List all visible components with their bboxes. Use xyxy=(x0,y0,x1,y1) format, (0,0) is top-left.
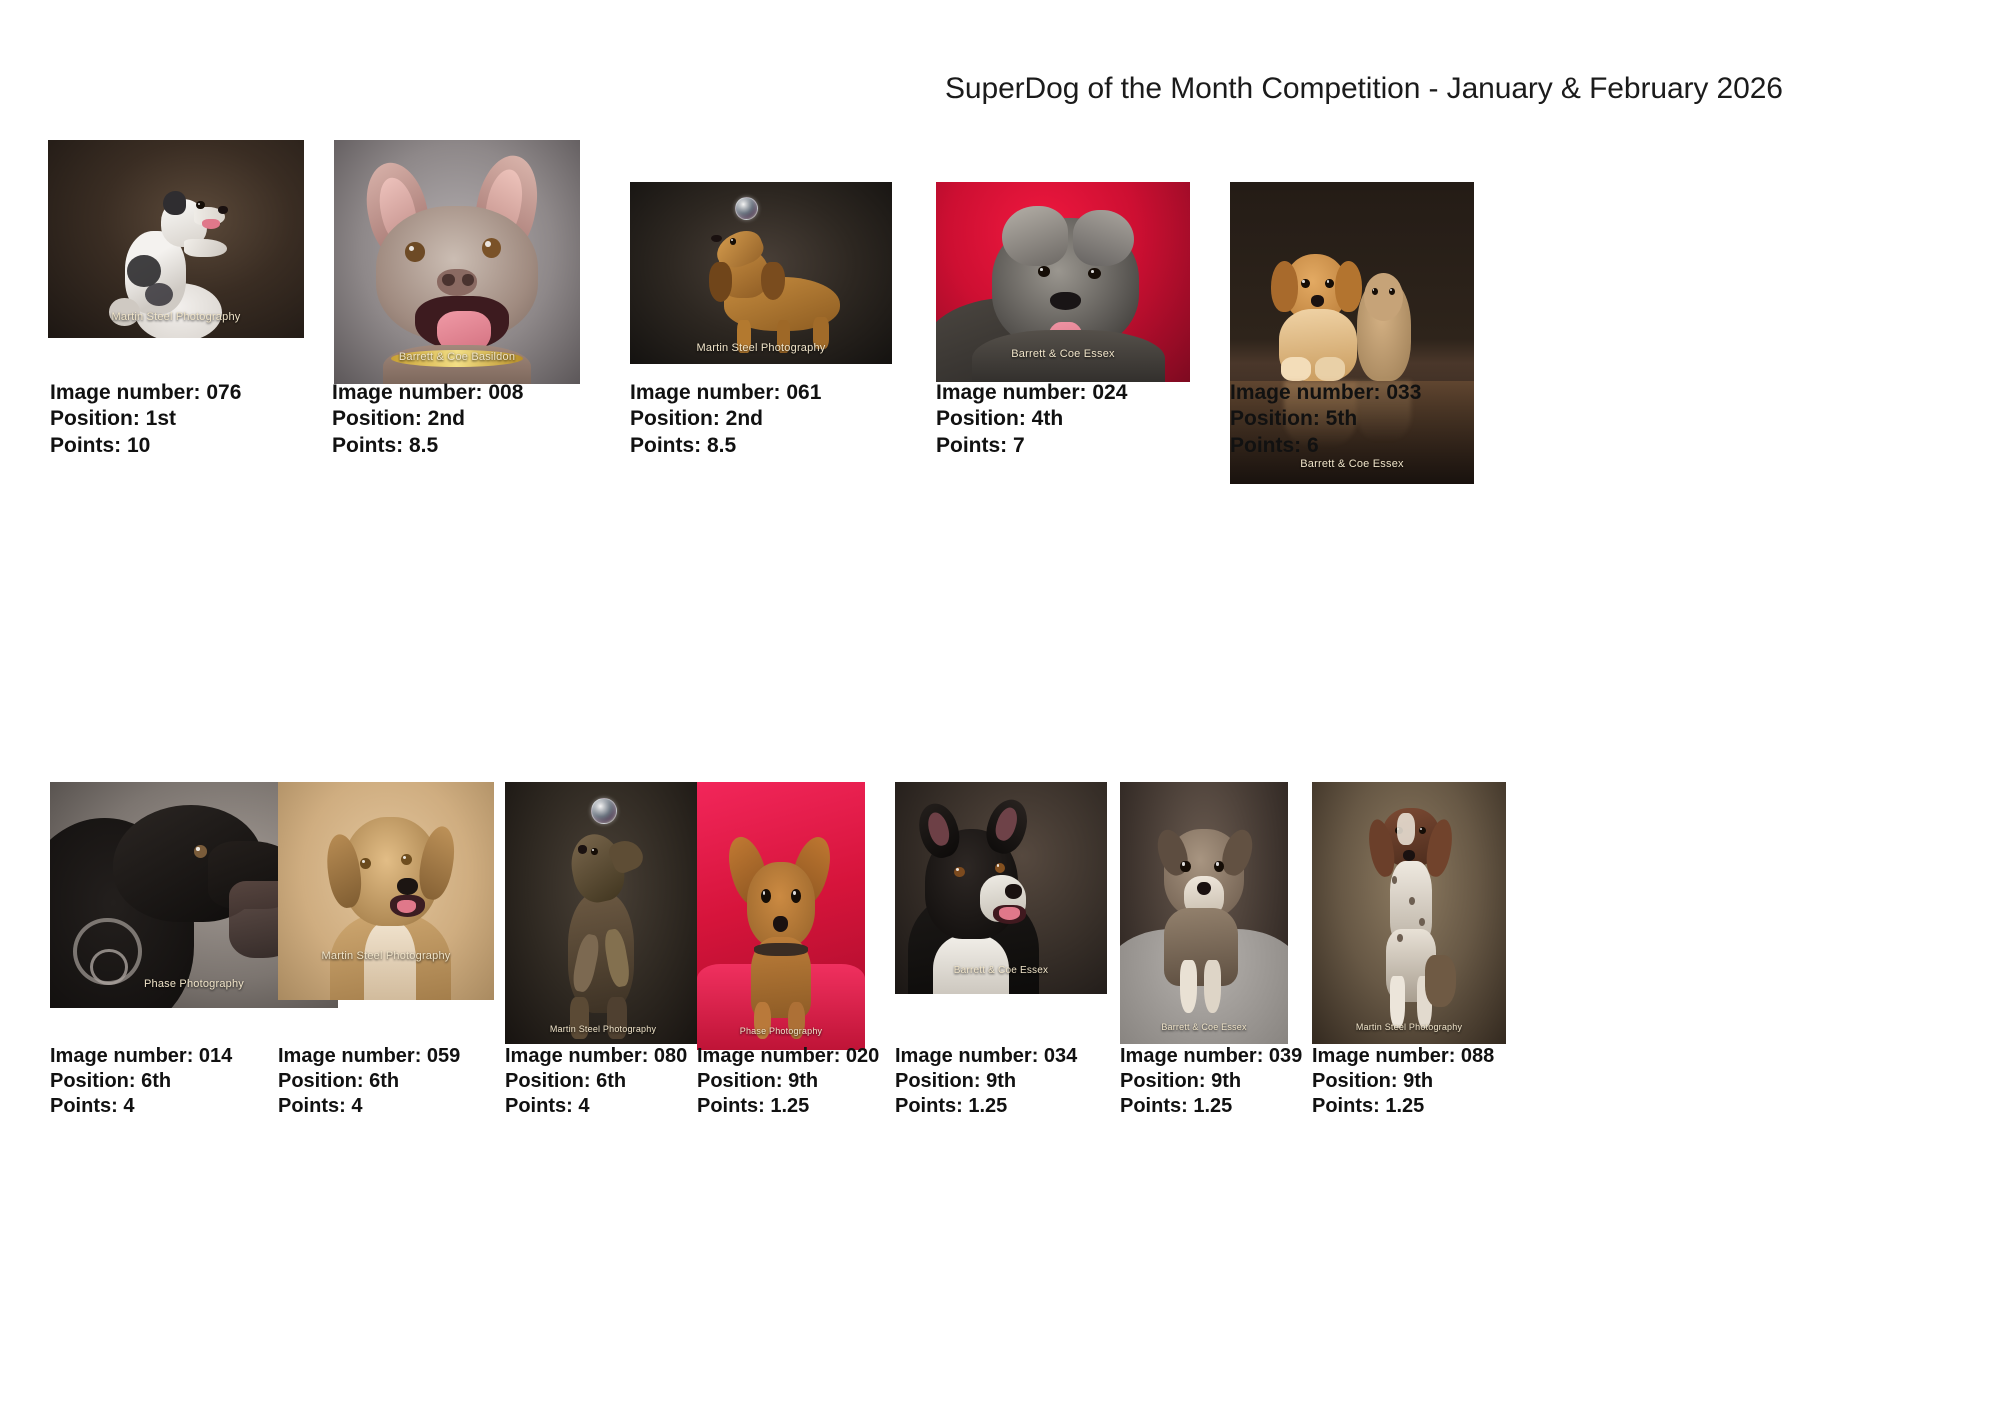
caption-position: Position: 5th xyxy=(1230,406,1421,432)
watermark-039: Barrett & Coe Essex xyxy=(1120,1022,1288,1032)
caption-080: Image number: 080 Position: 6th Points: … xyxy=(505,1044,687,1120)
photo-080[interactable]: Martin Steel Photography xyxy=(505,782,701,1044)
caption-points: Points: 7 xyxy=(936,433,1127,459)
entry-card-034[interactable]: Barrett & Coe Essex Image number: 034 Po… xyxy=(895,782,1107,994)
entry-card-033[interactable]: Barrett & Coe Essex Image number: 033 Po… xyxy=(1230,140,1474,484)
photo-059[interactable]: Martin Steel Photography xyxy=(278,782,494,1000)
scene-061 xyxy=(630,182,892,364)
caption-points: Points: 4 xyxy=(50,1094,232,1119)
entry-card-039[interactable]: Barrett & Coe Essex Image number: 039 Po… xyxy=(1120,782,1288,1044)
entry-card-059[interactable]: Martin Steel Photography Image number: 0… xyxy=(278,782,494,1000)
caption-position: Position: 9th xyxy=(697,1069,879,1094)
caption-034: Image number: 034 Position: 9th Points: … xyxy=(895,1044,1077,1120)
caption-033: Image number: 033 Position: 5th Points: … xyxy=(1230,380,1421,459)
photo-061[interactable]: Martin Steel Photography xyxy=(630,182,892,364)
watermark-061: Martin Steel Photography xyxy=(630,342,892,354)
scene-076 xyxy=(48,140,304,338)
caption-image-number: Image number: 008 xyxy=(332,380,523,406)
caption-points: Points: 10 xyxy=(50,433,241,459)
entry-card-076[interactable]: Martin Steel Photography Image number: 0… xyxy=(48,140,304,338)
photo-076[interactable]: Martin Steel Photography xyxy=(48,140,304,338)
scene-020 xyxy=(697,782,865,1050)
caption-088: Image number: 088 Position: 9th Points: … xyxy=(1312,1044,1494,1120)
caption-position: Position: 9th xyxy=(1312,1069,1494,1094)
entry-card-008[interactable]: Barrett & Coe Basildon Image number: 008… xyxy=(334,140,580,384)
watermark-088: Martin Steel Photography xyxy=(1312,1022,1506,1032)
photo-088[interactable]: Martin Steel Photography xyxy=(1312,782,1506,1044)
scene-034 xyxy=(895,782,1107,994)
page-title: SuperDog of the Month Competition - Janu… xyxy=(945,72,1783,106)
caption-076: Image number: 076 Position: 1st Points: … xyxy=(50,380,241,459)
scene-088 xyxy=(1312,782,1506,1044)
caption-points: Points: 8.5 xyxy=(630,433,821,459)
photo-008[interactable]: Barrett & Coe Basildon xyxy=(334,140,580,384)
caption-024: Image number: 024 Position: 4th Points: … xyxy=(936,380,1127,459)
entry-card-080[interactable]: Martin Steel Photography Image number: 0… xyxy=(505,782,701,1044)
watermark-008: Barrett & Coe Basildon xyxy=(334,351,580,363)
caption-position: Position: 9th xyxy=(895,1069,1077,1094)
caption-061: Image number: 061 Position: 2nd Points: … xyxy=(630,380,821,459)
photo-024[interactable]: Barrett & Coe Essex xyxy=(936,182,1190,382)
scene-080 xyxy=(505,782,701,1044)
caption-image-number: Image number: 061 xyxy=(630,380,821,406)
caption-position: Position: 6th xyxy=(505,1069,687,1094)
caption-image-number: Image number: 088 xyxy=(1312,1044,1494,1069)
caption-image-number: Image number: 034 xyxy=(895,1044,1077,1069)
scene-008 xyxy=(334,140,580,384)
photo-034[interactable]: Barrett & Coe Essex xyxy=(895,782,1107,994)
photo-039[interactable]: Barrett & Coe Essex xyxy=(1120,782,1288,1044)
caption-position: Position: 6th xyxy=(278,1069,460,1094)
caption-image-number: Image number: 076 xyxy=(50,380,241,406)
caption-image-number: Image number: 039 xyxy=(1120,1044,1302,1069)
entry-card-061[interactable]: Martin Steel Photography Image number: 0… xyxy=(630,140,892,364)
watermark-033: Barrett & Coe Essex xyxy=(1230,458,1474,470)
caption-points: Points: 1.25 xyxy=(1120,1094,1302,1119)
scene-059 xyxy=(278,782,494,1000)
watermark-059: Martin Steel Photography xyxy=(278,950,494,962)
entry-card-088[interactable]: Martin Steel Photography Image number: 0… xyxy=(1312,782,1506,1044)
caption-points: Points: 4 xyxy=(505,1094,687,1119)
caption-059: Image number: 059 Position: 6th Points: … xyxy=(278,1044,460,1120)
bubble-icon xyxy=(591,798,616,824)
watermark-076: Martin Steel Photography xyxy=(48,311,304,323)
caption-image-number: Image number: 059 xyxy=(278,1044,460,1069)
scene-039 xyxy=(1120,782,1288,1044)
bubble-icon xyxy=(735,197,759,221)
caption-008: Image number: 008 Position: 2nd Points: … xyxy=(332,380,523,459)
caption-position: Position: 9th xyxy=(1120,1069,1302,1094)
caption-position: Position: 4th xyxy=(936,406,1127,432)
watermark-034: Barrett & Coe Essex xyxy=(895,965,1107,976)
caption-039: Image number: 039 Position: 9th Points: … xyxy=(1120,1044,1302,1120)
watermark-020: Phase Photography xyxy=(697,1026,865,1036)
watermark-024: Barrett & Coe Essex xyxy=(936,348,1190,360)
caption-020: Image number: 020 Position: 9th Points: … xyxy=(697,1044,879,1120)
caption-points: Points: 8.5 xyxy=(332,433,523,459)
caption-image-number: Image number: 080 xyxy=(505,1044,687,1069)
entry-card-024[interactable]: Barrett & Coe Essex Image number: 024 Po… xyxy=(936,140,1190,382)
caption-014: Image number: 014 Position: 6th Points: … xyxy=(50,1044,232,1120)
caption-position: Position: 2nd xyxy=(332,406,523,432)
watermark-080: Martin Steel Photography xyxy=(505,1024,701,1034)
caption-points: Points: 1.25 xyxy=(697,1094,879,1119)
caption-image-number: Image number: 020 xyxy=(697,1044,879,1069)
photo-020[interactable]: Phase Photography xyxy=(697,782,865,1050)
competition-results-page: SuperDog of the Month Competition - Janu… xyxy=(0,0,2000,1414)
caption-position: Position: 2nd xyxy=(630,406,821,432)
caption-image-number: Image number: 033 xyxy=(1230,380,1421,406)
caption-image-number: Image number: 014 xyxy=(50,1044,232,1069)
caption-points: Points: 6 xyxy=(1230,433,1421,459)
caption-points: Points: 4 xyxy=(278,1094,460,1119)
caption-position: Position: 1st xyxy=(50,406,241,432)
caption-image-number: Image number: 024 xyxy=(936,380,1127,406)
caption-points: Points: 1.25 xyxy=(895,1094,1077,1119)
caption-position: Position: 6th xyxy=(50,1069,232,1094)
entry-card-020[interactable]: Phase Photography Image number: 020 Posi… xyxy=(697,782,865,1050)
caption-points: Points: 1.25 xyxy=(1312,1094,1494,1119)
